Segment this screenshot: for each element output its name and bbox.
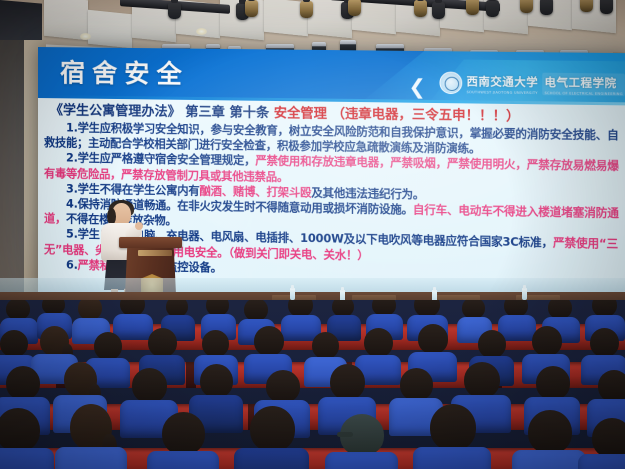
item-text: 学生应严格遵守宿舍安全管理规定， bbox=[78, 152, 256, 168]
audience-head bbox=[78, 300, 102, 320]
stage-spotlight-icon bbox=[520, 0, 533, 13]
audience-head bbox=[330, 364, 365, 400]
stage-spotlight-icon bbox=[600, 0, 613, 14]
stage-spotlight-icon bbox=[245, 0, 258, 17]
audience-head bbox=[254, 326, 284, 356]
audience-torso bbox=[113, 314, 153, 340]
department-block: 电气工程学院 SCHOOL OF ELECTRICAL ENGINEERING bbox=[542, 73, 625, 96]
stage-spotlight-icon bbox=[540, 0, 553, 15]
audience-head bbox=[418, 324, 448, 354]
institution-brand: 西南交通大学 SOUTHWEST JIAOTONG UNIVERSITY 电气工… bbox=[440, 72, 625, 97]
stage-spotlight-icon bbox=[300, 1, 313, 18]
audience-torso bbox=[325, 452, 398, 469]
water-bottle bbox=[290, 288, 295, 300]
audience-head bbox=[0, 330, 28, 357]
item-text: 学生不得在学生公寓内有 bbox=[78, 182, 200, 197]
audience-head bbox=[202, 330, 229, 357]
audience-head bbox=[94, 332, 122, 360]
audience-head bbox=[532, 326, 562, 356]
item-number: 4. bbox=[66, 197, 78, 210]
item-number: 5. bbox=[66, 228, 78, 241]
audience-head bbox=[132, 368, 167, 403]
stage-spotlight-icon bbox=[348, 0, 361, 16]
water-bottle bbox=[522, 288, 527, 300]
audience-head bbox=[598, 370, 625, 402]
audience-head bbox=[528, 410, 572, 454]
audience-head bbox=[148, 328, 177, 357]
audience-head bbox=[340, 414, 384, 456]
presenter-hand bbox=[135, 222, 143, 230]
audience-torso bbox=[578, 454, 625, 469]
slide-title: 宿舍安全 bbox=[60, 53, 189, 91]
audience-torso bbox=[512, 450, 586, 469]
audience-head bbox=[536, 366, 570, 400]
lecture-hall-photo: 宿舍安全 ❮ 西南交通大学 SOUTHWEST JIAOTONG UNIVERS… bbox=[0, 0, 625, 469]
audience-head bbox=[430, 404, 476, 451]
heading-note: （违章电器，三令五申！！！） bbox=[332, 107, 520, 125]
audience-head bbox=[364, 328, 393, 357]
audience-head bbox=[592, 418, 625, 458]
ceiling-downlight bbox=[196, 28, 207, 35]
item-text-tail: 及其他违法违纪行为。 bbox=[311, 186, 424, 201]
audience-head bbox=[312, 332, 339, 359]
podium-nameplate bbox=[138, 250, 172, 256]
institution-name-block: 西南交通大学 SOUTHWEST JIAOTONG UNIVERSITY bbox=[466, 72, 538, 95]
item-number: 3. bbox=[66, 182, 78, 195]
audience-head bbox=[0, 408, 40, 452]
audience-head bbox=[200, 364, 233, 398]
podium-top bbox=[119, 237, 182, 248]
audience-torso bbox=[147, 451, 219, 469]
audience-head bbox=[400, 368, 433, 401]
audience-torso bbox=[0, 448, 54, 469]
stage-spotlight-icon bbox=[486, 0, 499, 17]
audience-head bbox=[464, 362, 500, 398]
stage-spotlight-icon bbox=[414, 0, 427, 17]
heading-chapter: 第三章 bbox=[185, 105, 225, 121]
audience-head bbox=[250, 406, 295, 452]
audience bbox=[0, 300, 625, 469]
item-number: 6. bbox=[66, 258, 78, 271]
audience-head bbox=[6, 300, 30, 320]
ceiling-panel bbox=[88, 10, 132, 49]
ceiling-downlight bbox=[80, 33, 91, 40]
audience-head bbox=[478, 330, 506, 358]
heading-topic: 安全管理 bbox=[274, 106, 327, 122]
audience-head bbox=[162, 412, 205, 455]
audience-torso bbox=[413, 447, 491, 469]
slide-header-bar: 宿舍安全 ❮ 西南交通大学 SOUTHWEST JIAOTONG UNIVERS… bbox=[38, 47, 625, 102]
university-seal-icon bbox=[440, 72, 463, 95]
item-number: 1. bbox=[66, 121, 78, 134]
department-name-cn: 电气工程学院 bbox=[544, 76, 616, 90]
audience-head bbox=[590, 328, 619, 357]
institution-name-cn: 西南交通大学 bbox=[466, 75, 538, 89]
item-number: 2. bbox=[66, 152, 78, 165]
item-text-emphasis: 酗酒、赌博、打架斗殴 bbox=[200, 184, 312, 199]
audience-head bbox=[244, 300, 268, 321]
audience-torso bbox=[55, 447, 127, 469]
item-text: 学生应积极学习安全知识，参与安全教育，树立安全风险防范和自我保护意识，掌握必要的… bbox=[44, 122, 619, 156]
audience-head bbox=[266, 370, 300, 403]
institution-name-en: SOUTHWEST JIAOTONG UNIVERSITY bbox=[466, 90, 538, 95]
stage-spotlight-icon bbox=[466, 0, 479, 15]
heading-doc-title: 《学生公寓管理办法》 bbox=[50, 103, 181, 120]
stage-spotlight-icon bbox=[580, 0, 593, 12]
stage-spotlight-icon bbox=[168, 2, 181, 19]
back-chevron-icon: ❮ bbox=[408, 77, 425, 98]
audience-head bbox=[6, 366, 40, 400]
heading-article: 第十条 bbox=[230, 105, 270, 121]
audience-torso bbox=[234, 448, 309, 469]
stage-spotlight-icon bbox=[432, 2, 445, 19]
